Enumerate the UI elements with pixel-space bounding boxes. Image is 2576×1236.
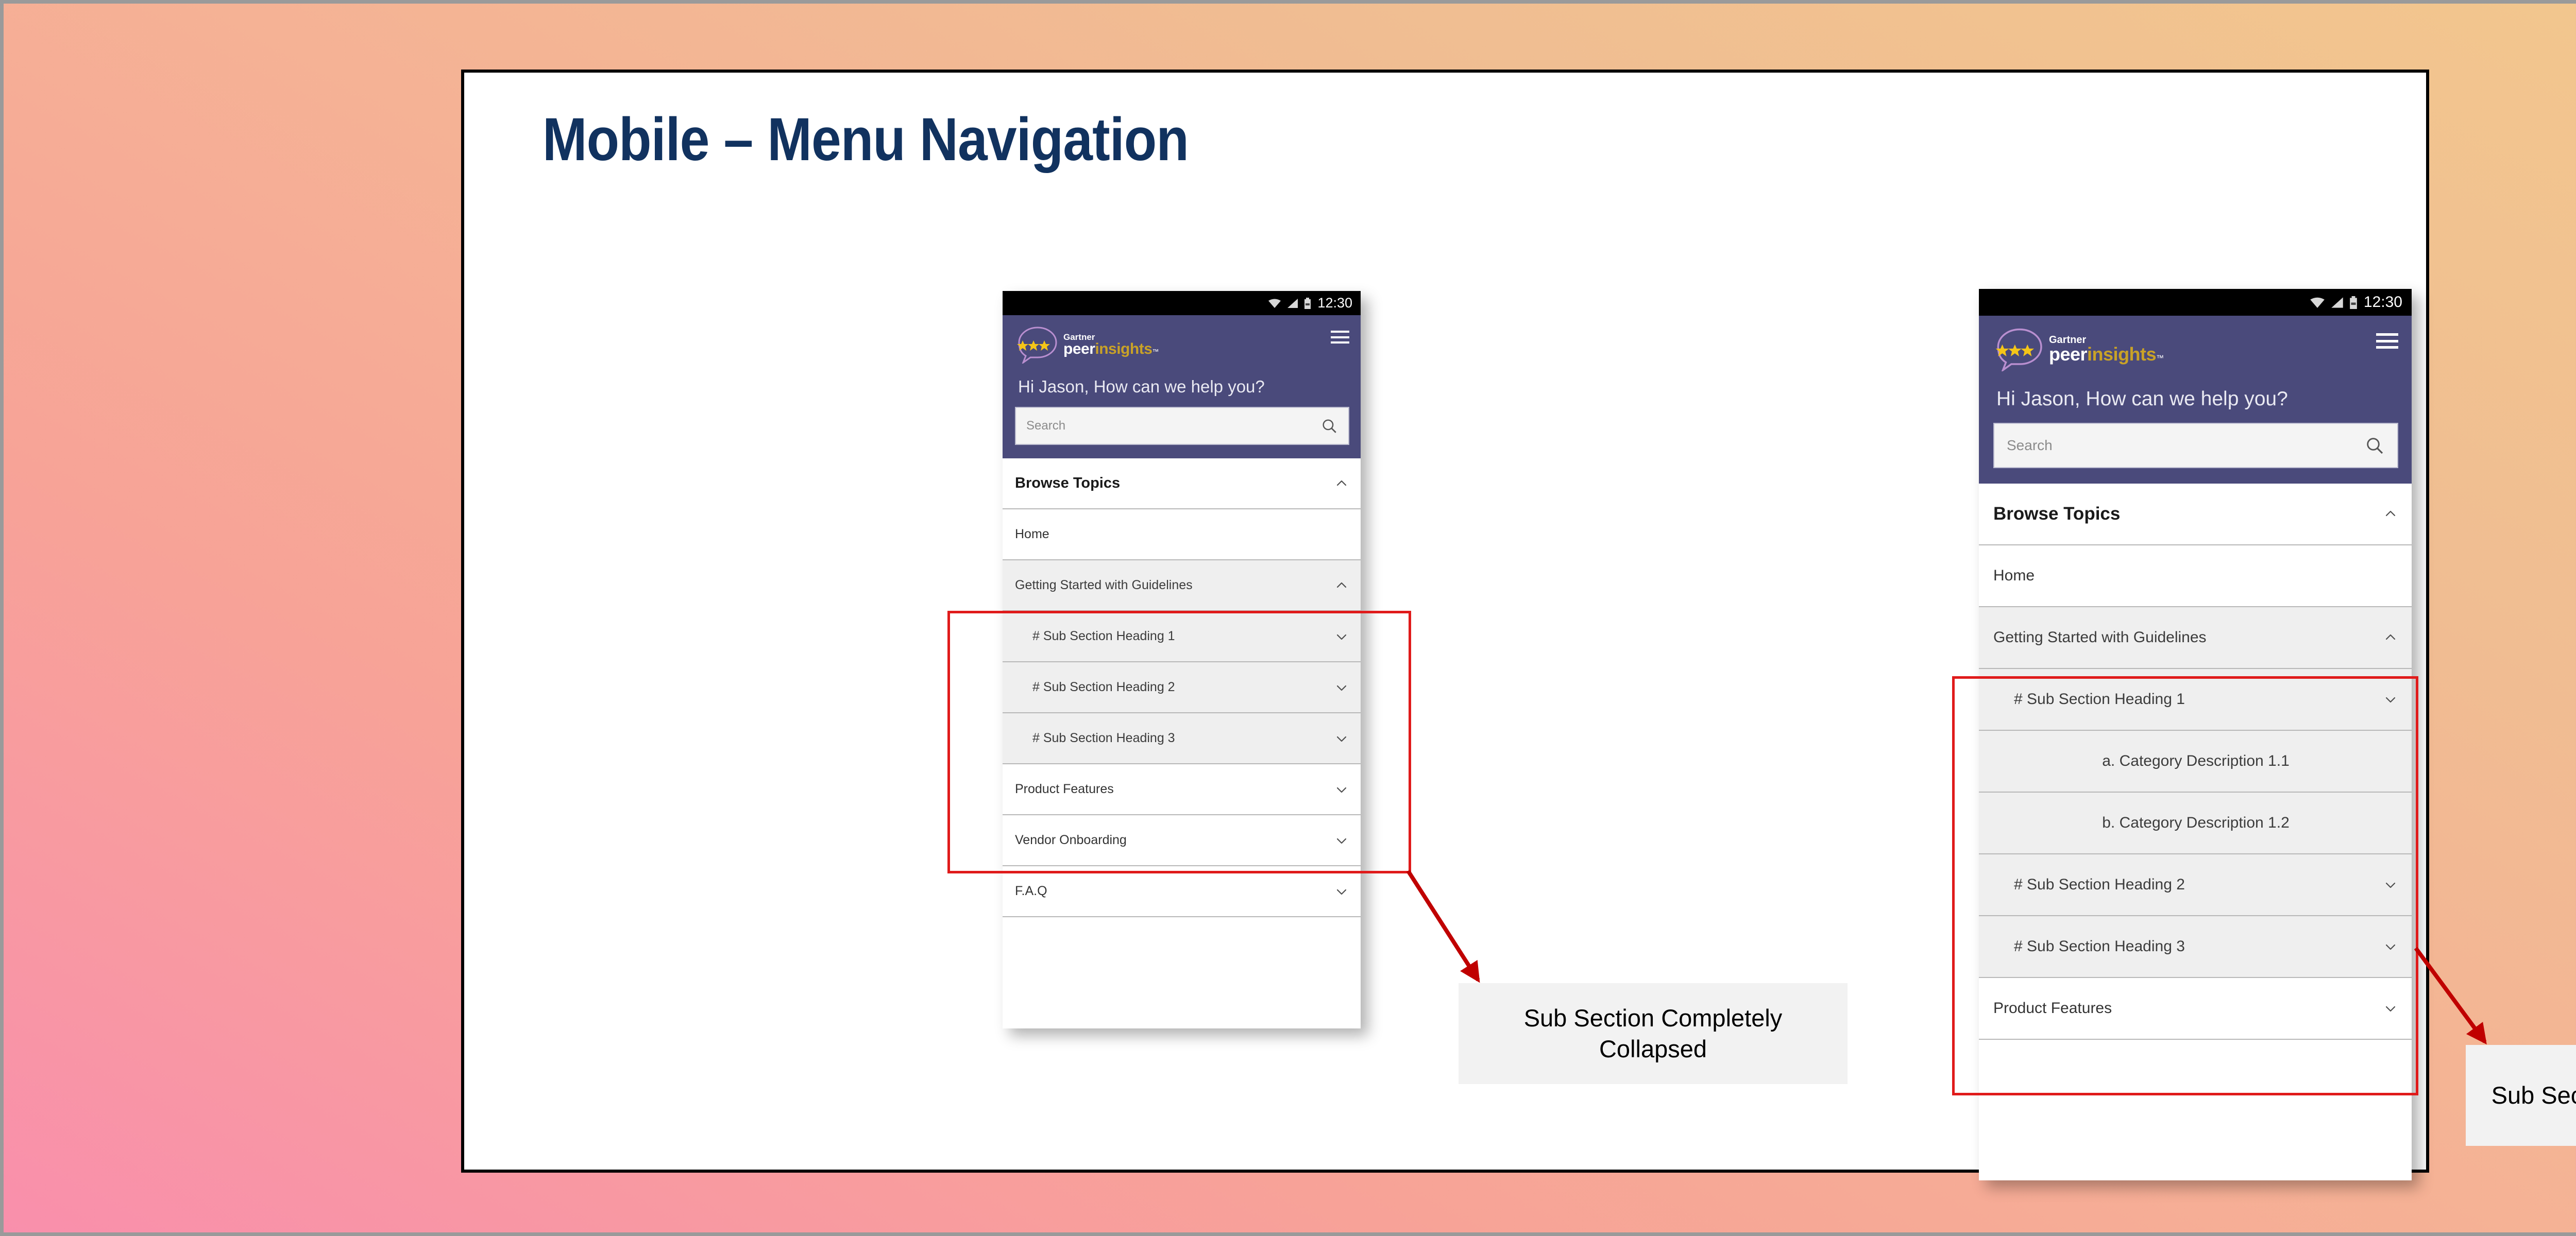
annotation-arrows (464, 73, 2432, 1176)
callout-partially-collapsed: Sub Section Partially Collapsed (2466, 1045, 2576, 1146)
callout-collapsed: Sub Section Completely Collapsed (1459, 983, 1848, 1084)
arrow-to-callout-1 (1408, 871, 1478, 980)
slide-canvas: Mobile – Menu Navigation 12:30 (461, 70, 2429, 1173)
arrow-to-callout-2 (2416, 948, 2485, 1042)
